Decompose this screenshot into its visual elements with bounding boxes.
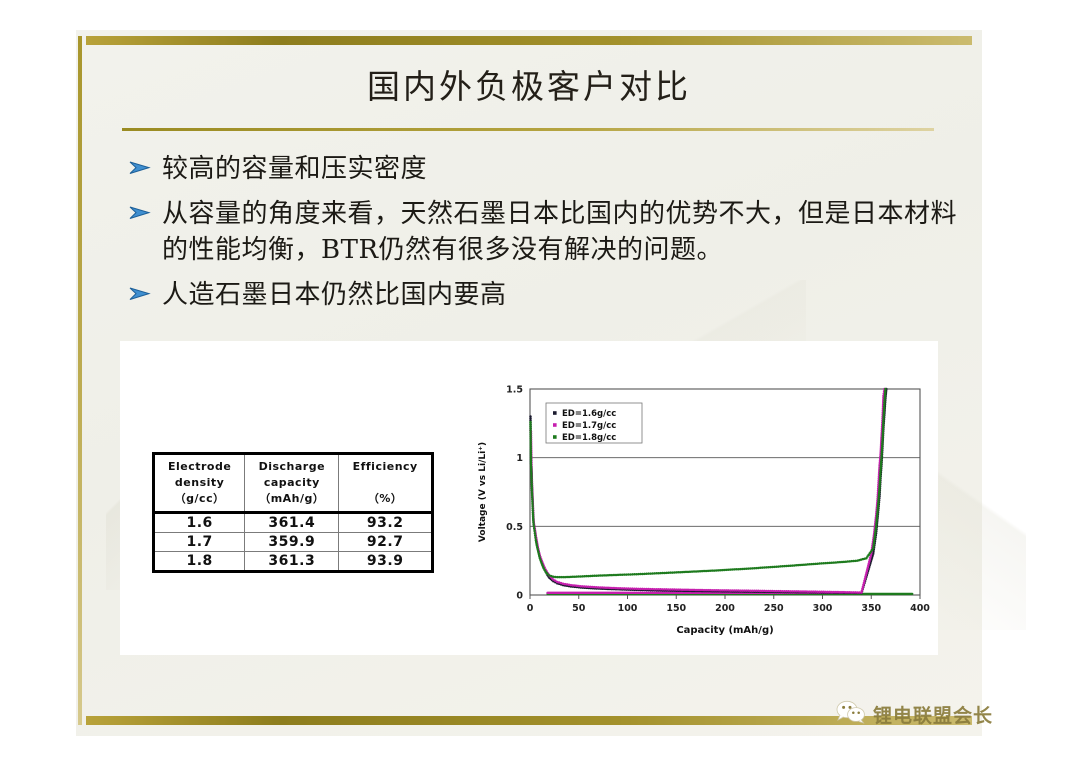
cell-efficiency: 93.9 (339, 551, 433, 571)
watermark-label: 锂电联盟会长 (873, 701, 993, 728)
column-header-efficiency: Efficiency （%） (339, 454, 433, 513)
list-item-label: 从容量的角度来看，天然石墨日本比国内的优势不大，但是日本材料的性能均衡，BTR仍… (162, 197, 968, 269)
y-tick-label: 0 (516, 591, 523, 602)
list-item: 较高的容量和压实密度 (128, 152, 968, 188)
x-tick-label: 250 (764, 603, 784, 614)
page-title: 国内外负极客户对比 (86, 60, 972, 108)
cell-density: 1.7 (154, 532, 245, 551)
y-tick-label: 0.5 (506, 522, 523, 533)
top-gold-bar (86, 36, 972, 45)
bullet-list: 较高的容量和压实密度 从容量的角度来看，天然石墨日本比国内的优势不大，但是日本材… (128, 152, 968, 323)
table-row: 1.8 361.3 93.9 (154, 551, 433, 571)
x-tick-label: 50 (572, 603, 586, 614)
legend-marker (553, 435, 557, 439)
list-item: 人造石墨日本仍然比国内要高 (128, 278, 968, 314)
electrode-performance-table: Electrode density （g/cc） Discharge capac… (152, 452, 434, 573)
table-row: 1.6 361.4 93.2 (154, 512, 433, 532)
table-row: 1.7 359.9 92.7 (154, 532, 433, 551)
legend-label: ED=1.8g/cc (562, 433, 616, 443)
figure-panel: Electrode density （g/cc） Discharge capac… (120, 341, 938, 655)
cell-density: 1.6 (154, 512, 245, 532)
x-tick-label: 200 (715, 603, 735, 614)
cell-capacity: 359.9 (245, 532, 339, 551)
legend-marker (553, 411, 557, 415)
x-tick-label: 350 (861, 603, 881, 614)
list-item-label: 较高的容量和压实密度 (162, 152, 427, 188)
legend-label: ED=1.7g/cc (562, 421, 616, 431)
column-header-electrode-density: Electrode density （g/cc） (154, 454, 245, 513)
legend-label: ED=1.6g/cc (562, 409, 616, 419)
column-header-discharge-capacity: Discharge capacity （mAh/g） (245, 454, 339, 513)
y-tick-label: 1.5 (506, 385, 523, 396)
x-axis-label: Capacity (mAh/g) (676, 625, 773, 636)
slide: 国内外负极客户对比 较高的容量和压实密度 从容量的角度来看，天然石墨日本比国内的… (0, 0, 1080, 763)
list-item: 从容量的角度来看，天然石墨日本比国内的优势不大，但是日本材料的性能均衡，BTR仍… (128, 197, 968, 269)
cell-density: 1.8 (154, 551, 245, 571)
x-tick-label: 0 (527, 603, 534, 614)
cell-efficiency: 93.2 (339, 512, 433, 532)
table-header-row: Electrode density （g/cc） Discharge capac… (154, 454, 433, 513)
arrowhead-bullet-icon (128, 278, 162, 303)
chart-canvas: 05010015020025030035040000.511.5ED=1.6g/… (472, 379, 934, 637)
x-tick-label: 150 (666, 603, 686, 614)
cell-capacity: 361.3 (245, 551, 339, 571)
legend-marker (553, 423, 557, 427)
title-divider (122, 128, 934, 131)
wechat-icon (836, 700, 866, 729)
voltage-capacity-chart: 05010015020025030035040000.511.5ED=1.6g/… (472, 379, 934, 637)
y-axis-label: Voltage (V vs Li/Li⁺) (478, 442, 488, 542)
x-tick-label: 300 (813, 603, 833, 614)
watermark: 锂电联盟会长 (836, 700, 993, 729)
arrowhead-bullet-icon (128, 152, 162, 177)
x-tick-label: 400 (910, 603, 930, 614)
left-gold-bar (78, 36, 82, 725)
arrowhead-bullet-icon (128, 197, 162, 222)
list-item-label: 人造石墨日本仍然比国内要高 (162, 278, 507, 314)
cell-capacity: 361.4 (245, 512, 339, 532)
cell-efficiency: 92.7 (339, 532, 433, 551)
x-tick-label: 100 (618, 603, 638, 614)
y-tick-label: 1 (516, 453, 523, 464)
